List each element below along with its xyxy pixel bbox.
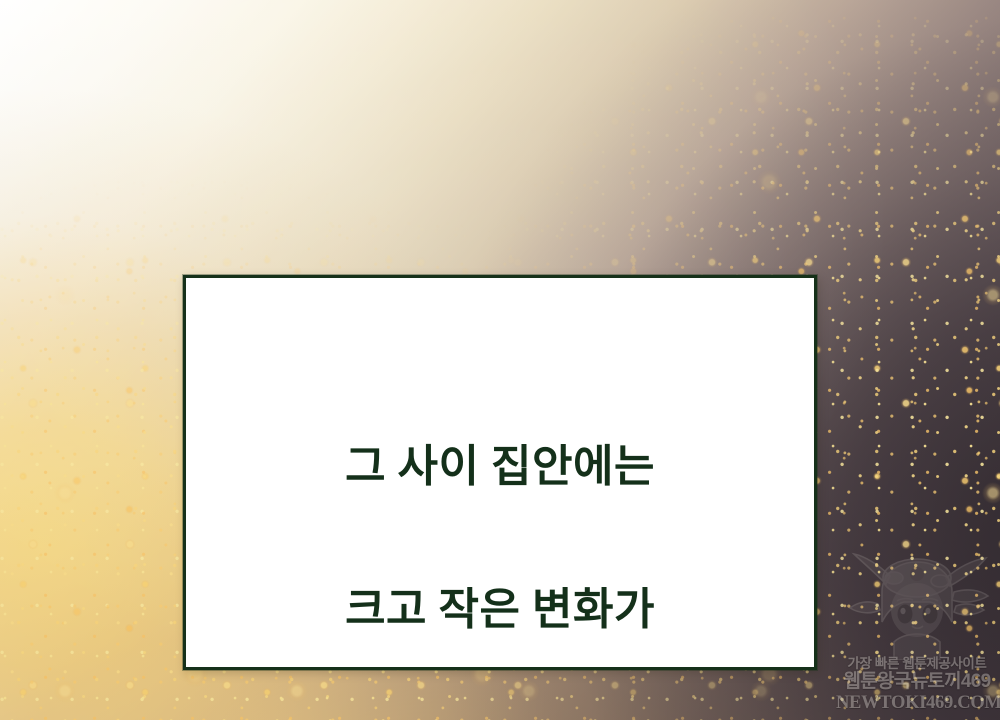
narration-line-2: 크고 작은 변화가 xyxy=(345,574,655,645)
narration-panel: 그 사이 집안에는 크고 작은 변화가 생겼다. xyxy=(183,275,817,670)
watermark-sitename: 웹툰왕국뉴토끼469 xyxy=(836,671,998,692)
rabbit-mascot-icon xyxy=(842,548,992,660)
narration-text-block: 그 사이 집안에는 크고 작은 변화가 생겼다. xyxy=(345,360,655,720)
comic-page: 그 사이 집안에는 크고 작은 변화가 생겼다. xyxy=(0,0,1000,720)
narration-line-3: 생겼다. xyxy=(345,716,655,720)
narration-line-1: 그 사이 집안에는 xyxy=(345,431,655,502)
watermark-text-block: 가장 빠른 웹툰제공사이트 웹툰왕국뉴토끼469 NEWTOKI469.COM xyxy=(836,656,998,713)
watermark-tagline: 가장 빠른 웹툰제공사이트 xyxy=(836,656,998,672)
site-watermark: 가장 빠른 웹툰제공사이트 웹툰왕국뉴토끼469 NEWTOKI469.COM xyxy=(834,548,1000,720)
watermark-url: NEWTOKI469.COM xyxy=(836,693,998,713)
